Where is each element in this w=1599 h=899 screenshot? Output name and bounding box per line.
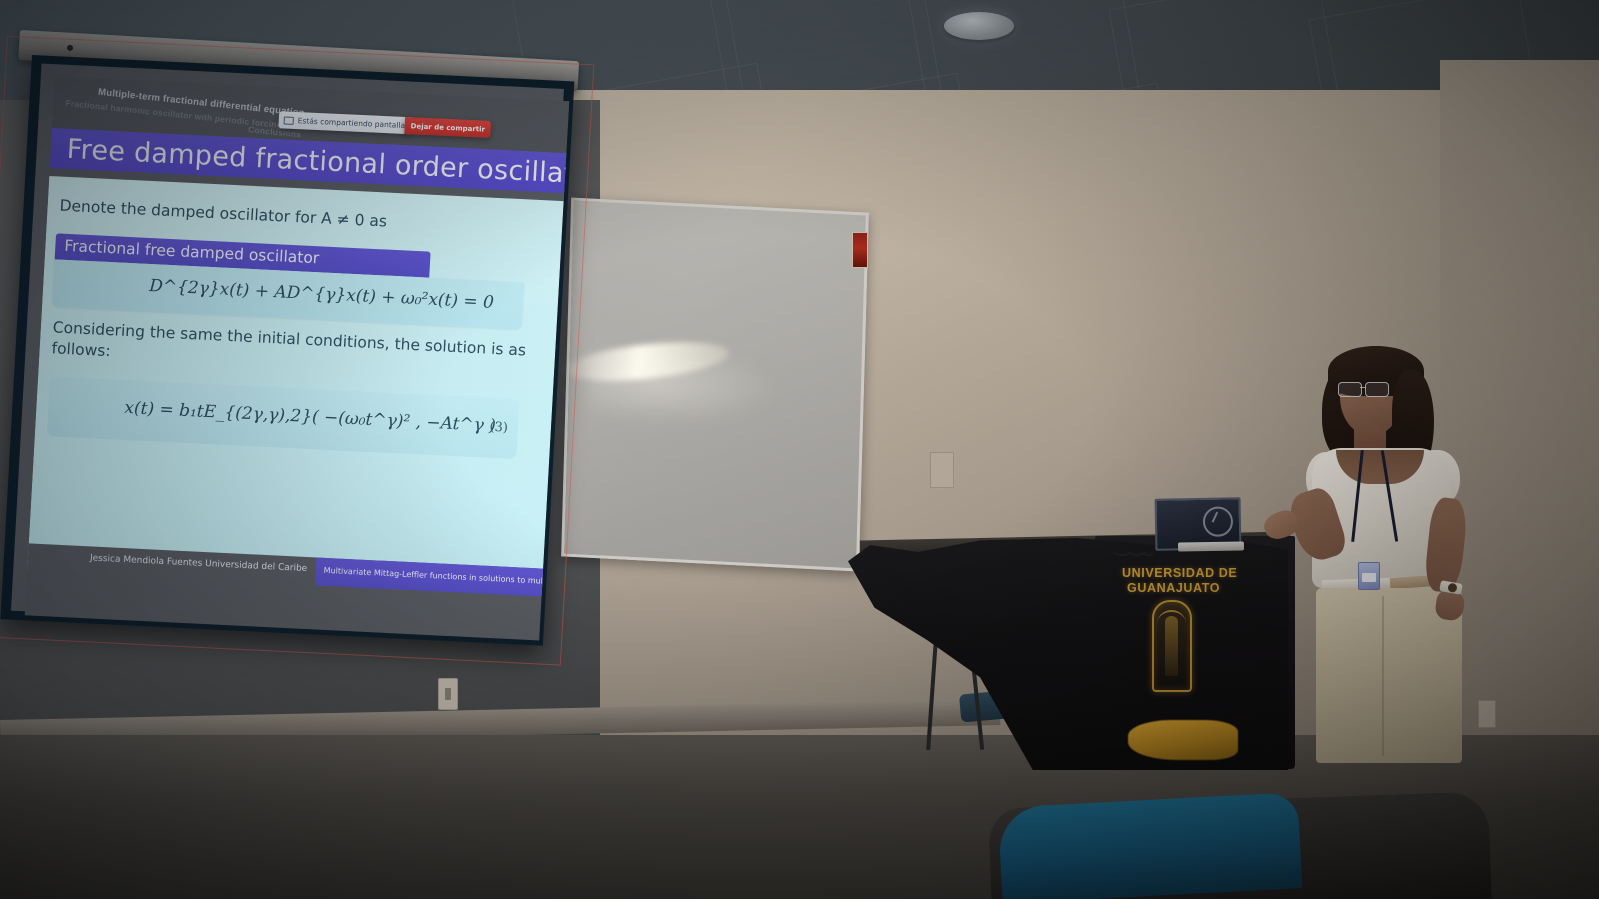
screen-share-toast: Estás compartiendo pantalla bbox=[278, 111, 411, 134]
intro-text: Denote the damped oscillator for A ≠ 0 a… bbox=[59, 197, 387, 231]
gold-cloth-fold bbox=[1128, 720, 1238, 760]
body-text-line-2: follows: bbox=[51, 339, 111, 360]
screen-surface: Multiple-term fractional differential eq… bbox=[11, 63, 564, 636]
conference-badge bbox=[1358, 562, 1380, 590]
cloth-text-line-2: GUANAJUATO bbox=[1127, 581, 1220, 595]
stop-sharing-label: Dejar de compartir bbox=[410, 122, 485, 133]
recessed-ceiling-light bbox=[944, 12, 1014, 40]
beamer-slide[interactable]: Multiple-term fractional differential eq… bbox=[25, 76, 570, 640]
monitor-icon bbox=[284, 116, 294, 124]
equation-1: D^{2γ}x(t) + AD^{γ}x(t) + ω₀²x(t) = 0 bbox=[149, 276, 495, 313]
whiteboard bbox=[561, 198, 869, 572]
stop-sharing-button[interactable]: Dejar de compartir bbox=[404, 117, 491, 138]
projection-screen: Multiple-term fractional differential eq… bbox=[0, 55, 574, 646]
trouser-seam bbox=[1382, 596, 1384, 756]
fire-alarm-pull-station bbox=[852, 232, 868, 268]
wall-access-panel bbox=[930, 452, 954, 488]
eyeglasses-icon bbox=[1338, 382, 1394, 395]
circular-logo-icon bbox=[1203, 506, 1234, 537]
footer-author: Jessica Mendiola Fuentes Universidad del… bbox=[90, 553, 308, 574]
equation-2-box: x(t) = b₁tE_{(2γ,γ),2}( −(ω₀t^γ)² , −At^… bbox=[47, 376, 520, 459]
university-crest-icon bbox=[1152, 600, 1192, 692]
slide-body: Denote the damped oscillator for A ≠ 0 a… bbox=[27, 176, 563, 596]
lecture-room-screenshot: Multiple-term fractional differential eq… bbox=[0, 0, 1599, 899]
cable-bundle bbox=[1112, 538, 1156, 558]
housing-screw bbox=[67, 45, 73, 51]
equation-2-number: (3) bbox=[489, 420, 508, 436]
foreground-chair-cushion bbox=[998, 792, 1303, 899]
equation-2: x(t) = b₁tE_{(2γ,γ),2}( −(ω₀t^γ)² , −At^… bbox=[124, 398, 496, 436]
footer-title: Multivariate Mittag-Leffler functions in… bbox=[323, 566, 563, 587]
cloth-text-line-1: UNIVERSIDAD DE bbox=[1122, 566, 1237, 580]
power-outlet bbox=[438, 678, 458, 710]
theorem-block-body: D^{2γ}x(t) + AD^{γ}x(t) + ω₀²x(t) = 0 bbox=[52, 259, 524, 329]
screen-share-message: Estás compartiendo pantalla bbox=[298, 116, 406, 130]
presenter bbox=[1270, 340, 1510, 760]
laptop-base bbox=[1178, 541, 1244, 551]
